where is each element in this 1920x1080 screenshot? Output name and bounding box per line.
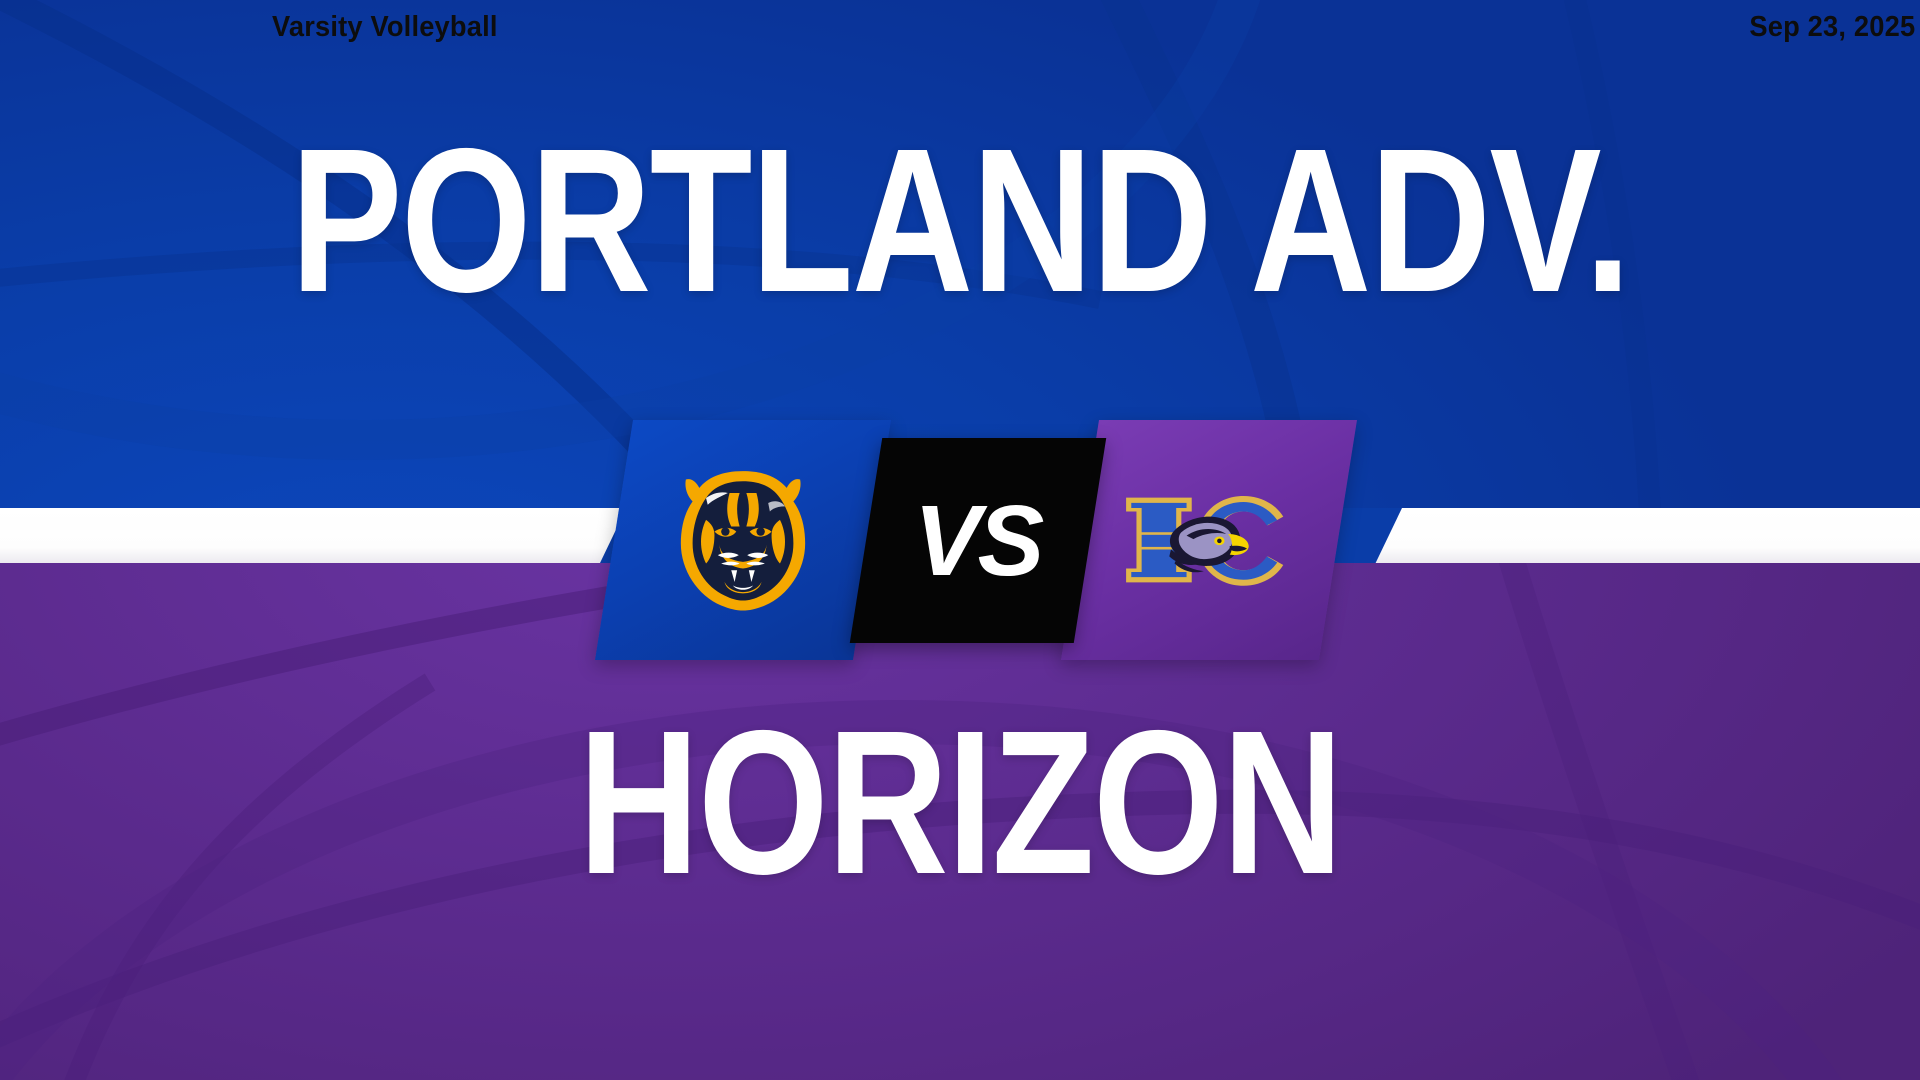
matchup-graphic: PORTLAND ADV. Varsity Volleyball Sep 23,… <box>0 0 1920 1080</box>
winning-team-headline: PORTLAND ADV. <box>173 118 1747 323</box>
game-date-label: Sep 23, 2025 <box>1525 0 1920 55</box>
info-bar <box>0 508 1920 563</box>
info-bar-surface <box>0 508 1920 563</box>
losing-team-headline: HORIZON <box>173 700 1747 905</box>
sport-label: Varsity Volleyball <box>272 0 498 55</box>
